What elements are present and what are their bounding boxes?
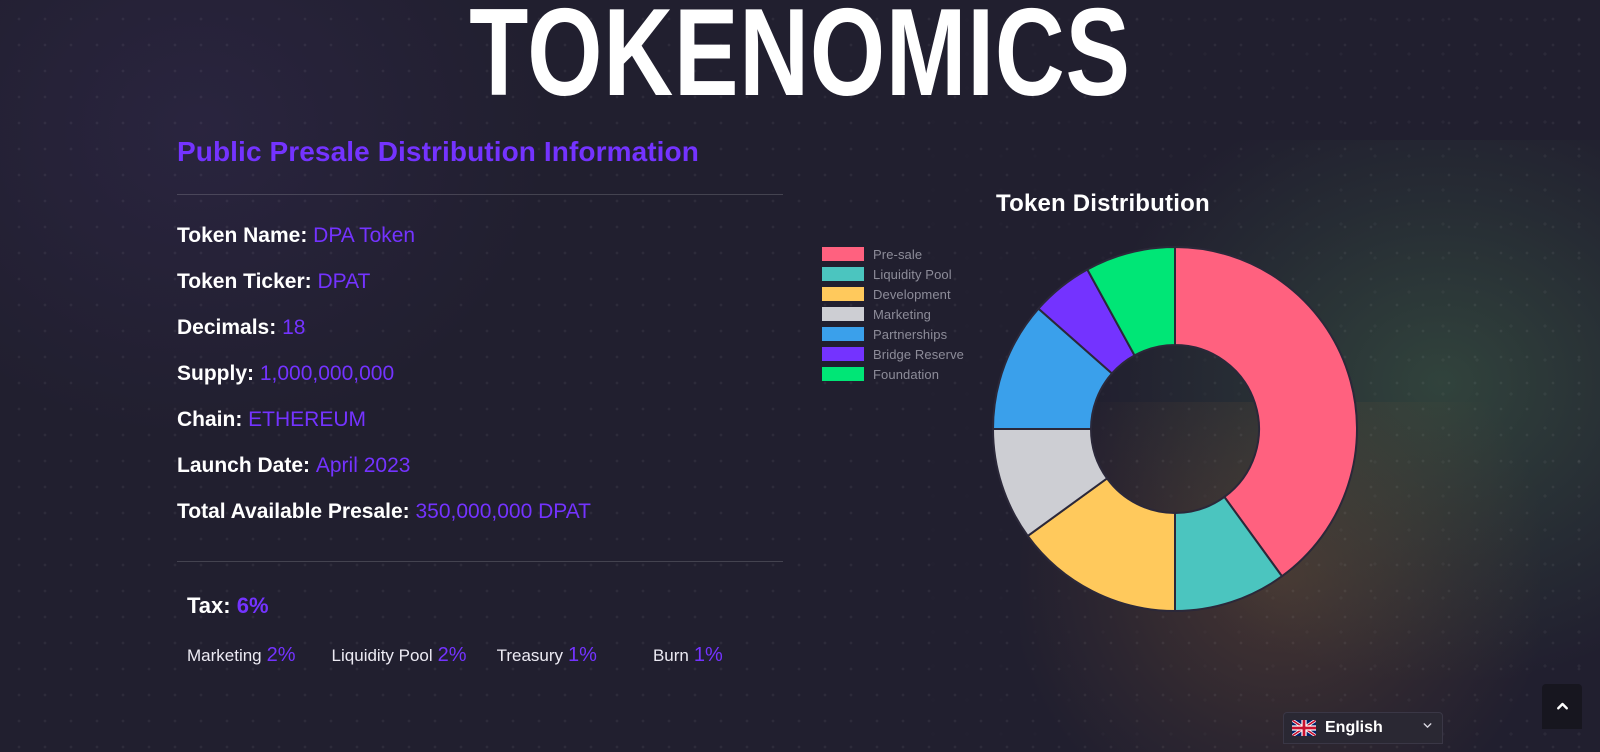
legend-swatch (822, 347, 864, 361)
info-label: Supply: (177, 362, 254, 385)
tax-item-value: 1% (694, 644, 723, 666)
info-label: Token Ticker: (177, 270, 312, 293)
legend-swatch (822, 247, 864, 261)
info-row: Token Name: DPA Token (177, 213, 787, 259)
legend-label: Pre-sale (873, 247, 922, 262)
tax-block: Tax: 6% Marketing2% Liquidity Pool2% Tre… (177, 590, 787, 667)
info-value: ETHEREUM (248, 408, 366, 431)
tax-breakdown-item: Burn1% (653, 644, 723, 667)
page-title: TOKENOMICS (176, 0, 1424, 112)
tax-total: Tax: 6% (187, 590, 787, 622)
info-row: Token Ticker: DPAT (177, 259, 787, 305)
tax-value: 6% (237, 593, 269, 618)
token-distribution-chart: Token Distribution Pre-saleLiquidity Poo… (820, 190, 1440, 640)
tax-item-name: Liquidity Pool (332, 646, 433, 665)
info-value: April 2023 (316, 454, 411, 477)
legend-label: Liquidity Pool (873, 267, 952, 282)
legend-label: Bridge Reserve (873, 347, 964, 362)
presale-info-panel: Public Presale Distribution Information … (177, 132, 787, 667)
legend-swatch (822, 287, 864, 301)
tax-label: Tax: (187, 593, 231, 618)
legend-swatch (822, 327, 864, 341)
info-value: 18 (282, 316, 305, 339)
divider-bottom (177, 561, 783, 562)
tax-breakdown-item: Treasury1% (497, 644, 597, 667)
legend-label: Development (873, 287, 951, 302)
chart-title: Token Distribution (996, 190, 1210, 218)
token-info-list: Token Name: DPA Token Token Ticker: DPAT… (177, 213, 787, 535)
legend-item[interactable]: Pre-sale (822, 247, 964, 261)
tax-breakdown-item: Liquidity Pool2% (332, 644, 467, 667)
info-label: Token Name: (177, 224, 307, 247)
legend-item[interactable]: Liquidity Pool (822, 267, 964, 281)
info-label: Launch Date: (177, 454, 310, 477)
tax-item-name: Treasury (497, 646, 563, 665)
info-value: 350,000,000 DPAT (416, 500, 592, 523)
tax-item-name: Marketing (187, 646, 262, 665)
language-switcher[interactable]: English (1283, 712, 1443, 744)
info-value: DPAT (317, 270, 370, 293)
info-label: Total Available Presale: (177, 500, 410, 523)
info-row: Supply: 1,000,000,000 (177, 351, 787, 397)
chevron-up-icon (1554, 698, 1571, 715)
legend-swatch (822, 367, 864, 381)
info-value: DPA Token (313, 224, 415, 247)
legend-swatch (822, 267, 864, 281)
legend-swatch (822, 307, 864, 321)
divider-top (177, 194, 783, 195)
legend-item[interactable]: Bridge Reserve (822, 347, 964, 361)
legend-item[interactable]: Partnerships (822, 327, 964, 341)
info-row: Decimals: 18 (177, 305, 787, 351)
tax-breakdown-item: Marketing2% (187, 644, 296, 667)
uk-flag-icon (1292, 720, 1316, 736)
tax-item-value: 2% (267, 644, 296, 666)
legend-item[interactable]: Marketing (822, 307, 964, 321)
chevron-down-icon[interactable] (1421, 719, 1434, 737)
chart-legend: Pre-saleLiquidity PoolDevelopmentMarketi… (822, 247, 964, 381)
info-row: Launch Date: April 2023 (177, 443, 787, 489)
donut-chart (990, 244, 1360, 614)
tax-item-name: Burn (653, 646, 689, 665)
language-label: English (1325, 719, 1421, 737)
info-row: Total Available Presale: 350,000,000 DPA… (177, 489, 787, 535)
scroll-to-top-button[interactable] (1542, 684, 1582, 729)
legend-item[interactable]: Development (822, 287, 964, 301)
tax-item-value: 2% (438, 644, 467, 666)
legend-item[interactable]: Foundation (822, 367, 964, 381)
tax-breakdown: Marketing2% Liquidity Pool2% Treasury1% … (187, 644, 787, 667)
info-value: 1,000,000,000 (260, 362, 394, 385)
tax-item-value: 1% (568, 644, 597, 666)
tokenomics-page: TOKENOMICS Public Presale Distribution I… (0, 0, 1600, 752)
info-label: Chain: (177, 408, 242, 431)
info-row: Chain: ETHEREUM (177, 397, 787, 443)
section-heading: Public Presale Distribution Information (177, 132, 787, 172)
info-label: Decimals: (177, 316, 276, 339)
legend-label: Marketing (873, 307, 931, 322)
legend-label: Partnerships (873, 327, 947, 342)
legend-label: Foundation (873, 367, 939, 382)
